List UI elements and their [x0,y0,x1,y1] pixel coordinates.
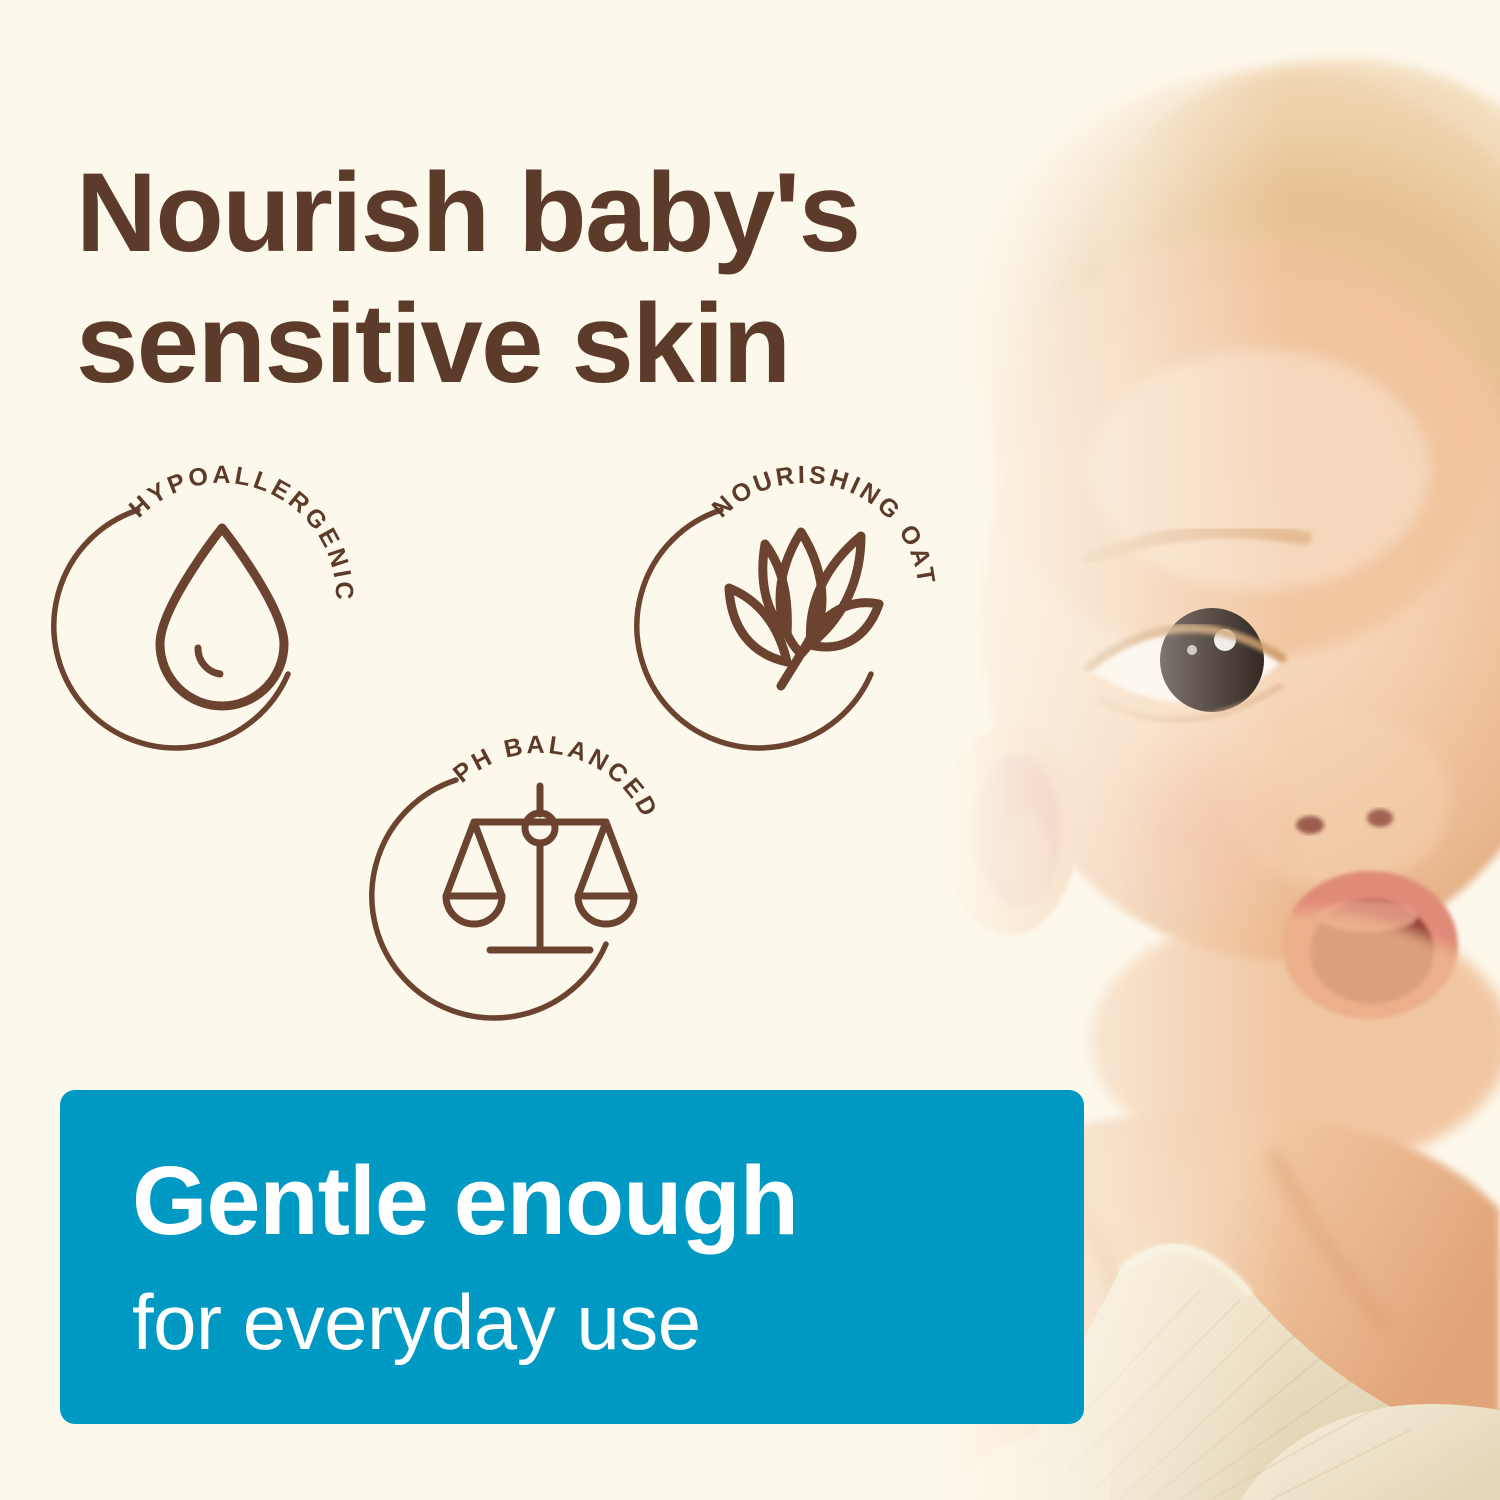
oat-leaves-icon [729,532,879,686]
badge-label: PH BALANCED [448,731,664,824]
gentle-enough-banner: Gentle enough for everyday use [60,1090,1084,1424]
banner-headline: Gentle enough [132,1152,1084,1249]
badge-label: NOURISHING OAT [707,461,941,588]
balance-scale-icon [446,786,634,950]
page-title: Nourish baby's sensitive skin [76,147,976,409]
banner-subheadline: for everyday use [132,1283,1084,1361]
badge-ring [54,510,288,748]
badge-nourishing-oat: NOURISHING OAT [655,448,955,748]
water-droplet-icon [160,528,284,706]
badge-ring [637,510,871,748]
product-marketing-image: Nourish baby's sensitive skin HYPOALLERG… [0,0,1500,1500]
badge-hypoallergenic: HYPOALLERGENIC [72,448,372,748]
badge-label: HYPOALLERGENIC [124,461,359,603]
badge-ph-balanced: PH BALANCED [390,718,690,1018]
